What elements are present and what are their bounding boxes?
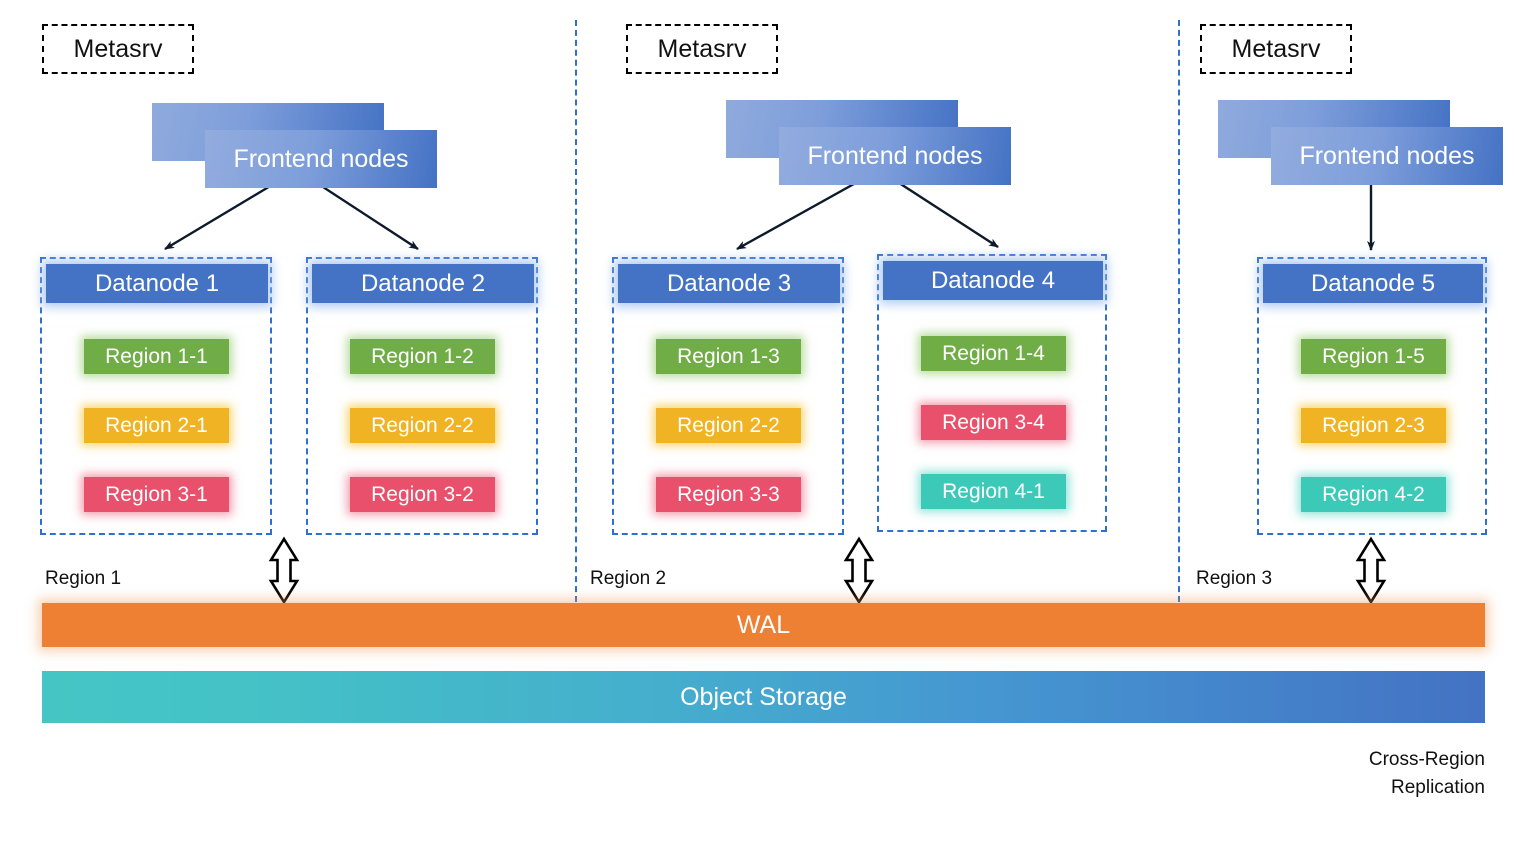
region-pill-label: Region 3-3: [677, 483, 780, 507]
metasrv-box-zone-2: Metasrv: [626, 24, 778, 74]
region-pill: Region 2-3: [1301, 408, 1446, 443]
region-pill: Region 2-1: [84, 408, 229, 443]
region-pill: Region 2-2: [350, 408, 495, 443]
region-pill-label: Region 1-5: [1322, 345, 1425, 369]
zone-caption-text: Region 3: [1196, 568, 1272, 589]
cross-region-replication-caption: Cross-Region Replication: [1185, 746, 1485, 801]
zone-divider-2: [1178, 20, 1180, 602]
zone-divider-1: [575, 20, 577, 602]
datanode-label: Datanode 2: [361, 270, 485, 298]
region-pill-label: Region 1-3: [677, 345, 780, 369]
frontend-nodes-label: Frontend nodes: [1299, 142, 1474, 171]
region-pill-label: Region 1-2: [371, 345, 474, 369]
region-pill-label: Region 3-1: [105, 483, 208, 507]
region-pill: Region 4-2: [1301, 477, 1446, 512]
wal-double-arrow-zone-2: [846, 539, 872, 602]
metasrv-label: Metasrv: [74, 35, 163, 64]
region-pill-label: Region 1-4: [942, 342, 1045, 366]
datanode-header-3: Datanode 3: [618, 264, 840, 303]
frontend-nodes-zone-3: Frontend nodes: [1218, 100, 1508, 188]
object-storage-bar: Object Storage: [42, 671, 1485, 723]
region-pill: Region 3-2: [350, 477, 495, 512]
zone-caption-1: Region 1: [45, 568, 121, 590]
zone-caption-3: Region 3: [1196, 568, 1272, 590]
cross-region-line-2: Replication: [1185, 774, 1485, 802]
datanode-header-5: Datanode 5: [1263, 264, 1483, 303]
metasrv-box-zone-1: Metasrv: [42, 24, 194, 74]
frontend-nodes-zone-2: Frontend nodes: [726, 100, 1016, 188]
region-pill-label: Region 2-2: [677, 414, 780, 438]
zone-caption-text: Region 2: [590, 568, 666, 589]
datanode-label: Datanode 5: [1311, 270, 1435, 298]
cross-region-line-1: Cross-Region: [1185, 746, 1485, 774]
frontend-node-card-front: Frontend nodes: [1271, 127, 1503, 185]
datanode-box-5: Datanode 5 Region 1-5 Region 2-3 Region …: [1257, 257, 1487, 535]
region-pill-label: Region 4-1: [942, 480, 1045, 504]
region-pill-label: Region 1-1: [105, 345, 208, 369]
frontend-nodes-label: Frontend nodes: [807, 142, 982, 171]
datanode-label: Datanode 3: [667, 270, 791, 298]
metasrv-box-zone-3: Metasrv: [1200, 24, 1352, 74]
region-pill: Region 1-5: [1301, 339, 1446, 374]
region-pill-label: Region 4-2: [1322, 483, 1425, 507]
region-pill: Region 4-1: [921, 474, 1066, 509]
wal-bar: WAL: [42, 603, 1485, 647]
region-pill: Region 3-1: [84, 477, 229, 512]
datanode-header-1: Datanode 1: [46, 264, 268, 303]
zone-caption-text: Region 1: [45, 568, 121, 589]
region-pill: Region 1-4: [921, 336, 1066, 371]
wal-double-arrow-zone-1: [271, 539, 297, 602]
architecture-diagram: Metasrv Frontend nodes Datanode 1 Region…: [0, 0, 1514, 842]
frontend-nodes-zone-1: Frontend nodes: [152, 103, 442, 191]
region-pill: Region 1-3: [656, 339, 801, 374]
frontend-node-card-front: Frontend nodes: [779, 127, 1011, 185]
metasrv-label: Metasrv: [1232, 35, 1321, 64]
datanode-label: Datanode 1: [95, 270, 219, 298]
region-pill-label: Region 3-4: [942, 411, 1045, 435]
datanode-box-3: Datanode 3 Region 1-3 Region 2-2 Region …: [612, 257, 844, 535]
datanode-label: Datanode 4: [931, 267, 1055, 295]
region-pill-label: Region 2-2: [371, 414, 474, 438]
datanode-box-4: Datanode 4 Region 1-4 Region 3-4 Region …: [877, 254, 1107, 532]
object-storage-label: Object Storage: [680, 683, 847, 712]
region-pill: Region 2-2: [656, 408, 801, 443]
region-pill: Region 1-1: [84, 339, 229, 374]
frontend-nodes-label: Frontend nodes: [233, 145, 408, 174]
region-pill-label: Region 2-3: [1322, 414, 1425, 438]
region-pill: Region 3-3: [656, 477, 801, 512]
wal-label: WAL: [737, 611, 790, 640]
region-pill: Region 3-4: [921, 405, 1066, 440]
wal-double-arrow-zone-3: [1358, 539, 1384, 602]
datanode-box-2: Datanode 2 Region 1-2 Region 2-2 Region …: [306, 257, 538, 535]
zone-caption-2: Region 2: [590, 568, 666, 590]
datanode-header-2: Datanode 2: [312, 264, 534, 303]
datanode-box-1: Datanode 1 Region 1-1 Region 2-1 Region …: [40, 257, 272, 535]
region-pill-label: Region 2-1: [105, 414, 208, 438]
region-pill-label: Region 3-2: [371, 483, 474, 507]
metasrv-label: Metasrv: [658, 35, 747, 64]
region-pill: Region 1-2: [350, 339, 495, 374]
frontend-node-card-front: Frontend nodes: [205, 130, 437, 188]
datanode-header-4: Datanode 4: [883, 261, 1103, 300]
